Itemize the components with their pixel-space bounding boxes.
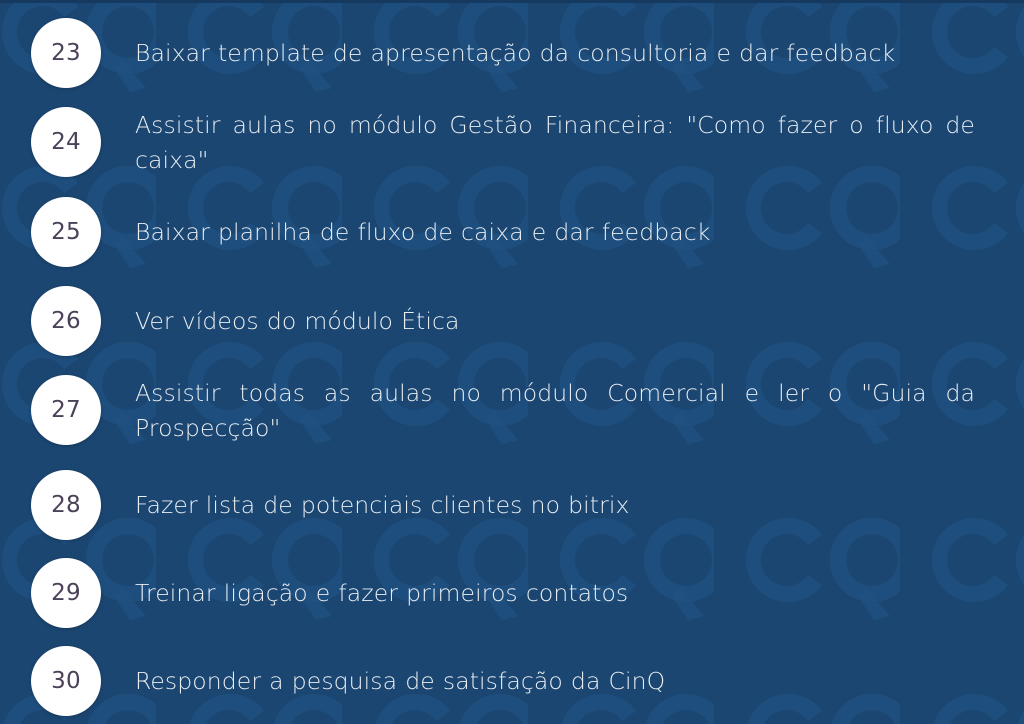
item-text: Baixar template de apresentação da consu… (135, 36, 975, 71)
item-text: Assistir aulas no módulo Gestão Financei… (135, 108, 975, 178)
item-text: Fazer lista de potenciais clientes no bi… (135, 488, 975, 523)
item-text: Baixar planilha de fluxo de caixa e dar … (135, 215, 975, 250)
top-edge-divider (0, 0, 1024, 3)
item-number-badge: 30 (31, 646, 101, 716)
item-number: 24 (51, 131, 81, 154)
item-text: Responder a pesquisa de satisfação da Ci… (135, 664, 975, 699)
item-number-badge: 24 (31, 107, 101, 177)
item-text: Treinar ligação e fazer primeiros contat… (135, 576, 975, 611)
slide-canvas: 23 Baixar template de apresentação da co… (0, 0, 1024, 724)
item-text: Ver vídeos do módulo Ética (135, 304, 975, 339)
item-number: 30 (51, 670, 81, 693)
item-number: 25 (51, 221, 81, 244)
numbered-checklist: 23 Baixar template de apresentação da co… (0, 0, 1024, 724)
item-number-badge: 29 (31, 558, 101, 628)
item-number-badge: 28 (31, 470, 101, 540)
item-number: 26 (51, 310, 81, 333)
item-number-badge: 25 (31, 197, 101, 267)
item-number: 23 (51, 42, 81, 65)
item-number: 29 (51, 582, 81, 605)
item-number-badge: 27 (31, 375, 101, 445)
item-number-badge: 26 (31, 286, 101, 356)
item-number: 27 (51, 399, 81, 422)
item-number: 28 (51, 494, 81, 517)
item-number-badge: 23 (31, 18, 101, 88)
item-text: Assistir todas as aulas no módulo Comerc… (135, 376, 975, 446)
